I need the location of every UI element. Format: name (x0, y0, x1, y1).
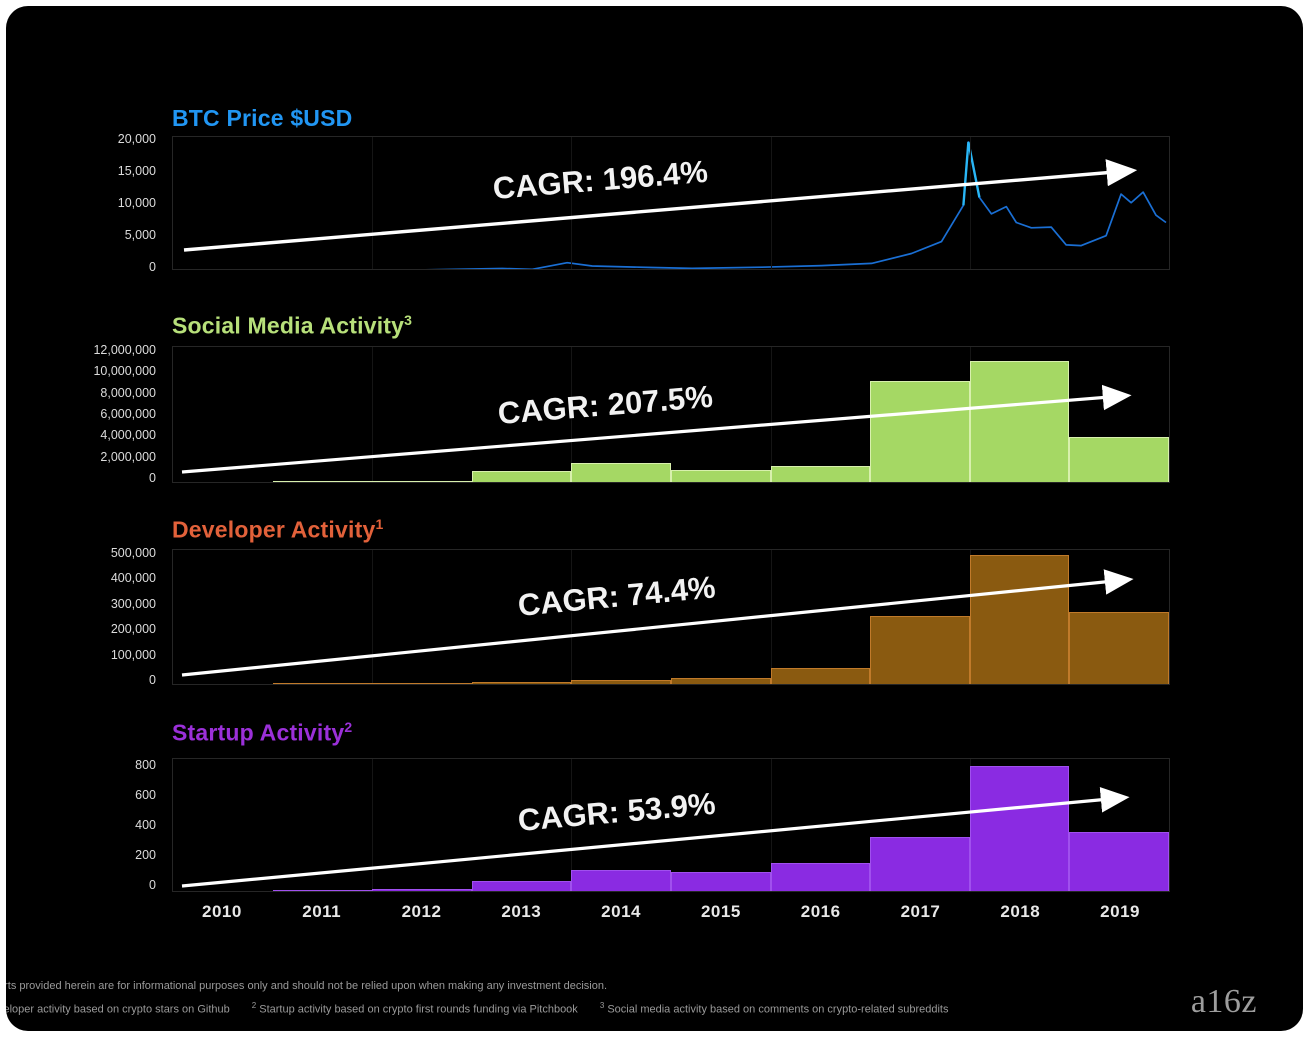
xaxis-tick-2013: 2013 (471, 902, 571, 928)
footnote-disclaimer: arts provided herein are for information… (6, 977, 1178, 996)
panel-startup-activity: Startup Activity2 800 600 400 200 0 CAGR… (6, 6, 1303, 906)
xaxis-tick-2018: 2018 (970, 902, 1070, 928)
xaxis-tick-2016: 2016 (771, 902, 871, 928)
xaxis-tick-2011: 2011 (272, 902, 372, 928)
xaxis-tick-2015: 2015 (671, 902, 771, 928)
xaxis-year-labels: 2010 2011 2012 2013 2014 2015 2016 2017 … (172, 902, 1170, 928)
footnote-developer-source: veloper activity based on crypto stars o… (6, 1004, 230, 1016)
footnotes-block: arts provided herein are for information… (6, 977, 1178, 1020)
xaxis-tick-2012: 2012 (372, 902, 472, 928)
xaxis-tick-2017: 2017 (871, 902, 971, 928)
footnote-startup-source: Startup activity based on crypto first r… (256, 1004, 578, 1016)
panel-title-footnote-marker: 2 (344, 719, 352, 735)
ytick-label: 200 (135, 848, 156, 862)
panel-title-startup-activity: Startup Activity2 (172, 719, 352, 747)
ytick-label: 0 (149, 878, 156, 892)
xaxis-tick-2014: 2014 (571, 902, 671, 928)
yaxis-labels-startup-activity: 800 600 400 200 0 (92, 765, 156, 885)
cagr-arrow-startup-activity (172, 758, 1172, 896)
ytick-label: 600 (135, 788, 156, 802)
footnote-social-source: Social media activity based on comments … (604, 1004, 948, 1016)
slide-card: BTC Price $USD 20,000 15,000 10,000 5,00… (6, 6, 1303, 1031)
ytick-label: 800 (135, 758, 156, 772)
panel-title-text: Startup Activity (172, 720, 344, 746)
xaxis-tick-2010: 2010 (172, 902, 272, 928)
footnote-sources: veloper activity based on crypto stars o… (6, 996, 1178, 1020)
xaxis-tick-2019: 2019 (1070, 902, 1170, 928)
ytick-label: 400 (135, 818, 156, 832)
a16z-logo: a16z (1191, 983, 1257, 1021)
